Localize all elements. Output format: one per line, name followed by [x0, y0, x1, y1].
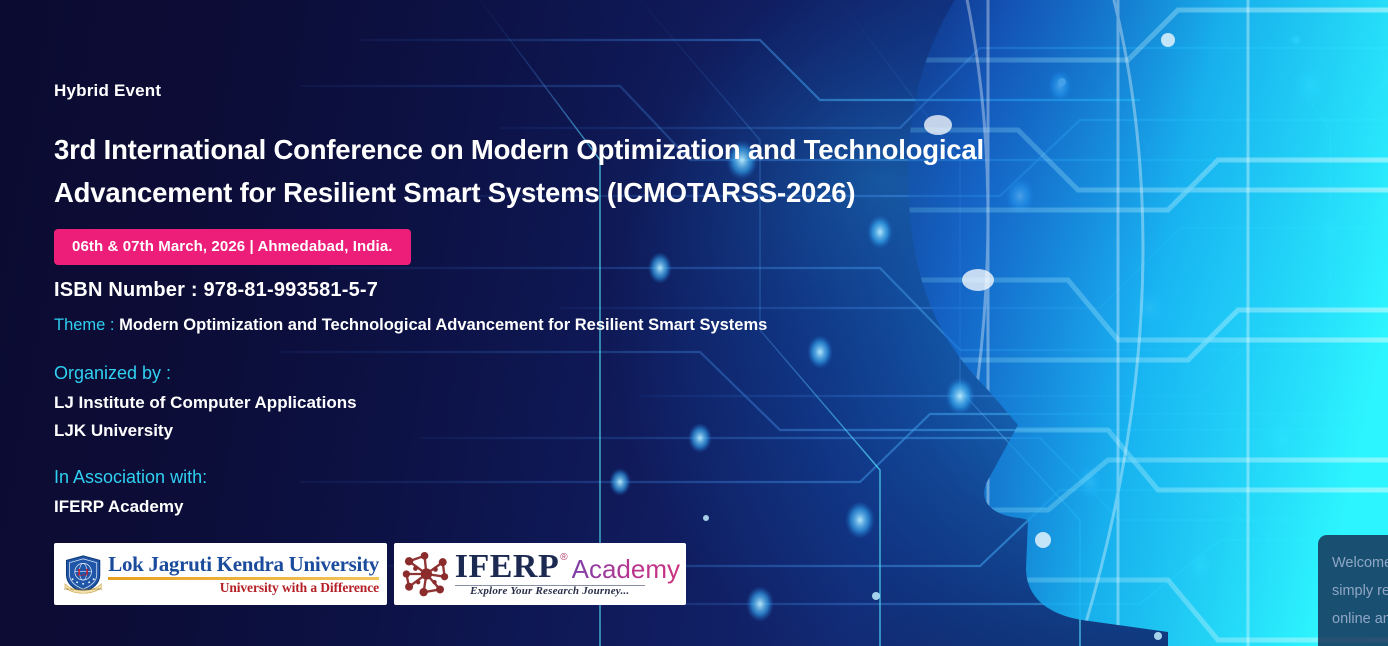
ljk-ribbon-text: Lok Jagruti Kendra University	[64, 587, 103, 591]
chat-message-line-3: online and ready to he	[1332, 605, 1388, 633]
iferp-academy-logo[interactable]: IFERP ® Academy Explore Your Research Jo…	[394, 543, 686, 605]
chat-message-line-1: Welcome to our site, i	[1332, 549, 1388, 577]
ljk-logo-name: Lok Jagruti Kendra University	[108, 554, 379, 575]
conference-title: 3rd International Conference on Modern O…	[54, 128, 1094, 214]
chat-widget[interactable]: Welcome to our site, i simply reply to t…	[1318, 535, 1388, 646]
logo-strip: LJ Lok Jagruti Kendra University Lok Jag…	[54, 543, 686, 605]
ljk-university-logo[interactable]: LJ Lok Jagruti Kendra University Lok Jag…	[54, 543, 387, 605]
isbn-number: ISBN Number : 978-81-993581-5-7	[54, 279, 378, 302]
theme-label: Theme :	[54, 316, 115, 334]
organizer-institute: LJ Institute of Computer Applications	[54, 393, 357, 413]
ljk-logo-tagline: University with a Difference	[108, 581, 379, 595]
iferp-molecule-icon	[400, 547, 453, 601]
iferp-logo-subname: Academy	[572, 556, 680, 583]
association-value: IFERP Academy	[54, 497, 183, 517]
event-type-label: Hybrid Event	[54, 81, 161, 101]
organizer-university: LJK University	[54, 421, 173, 441]
theme-line: Theme : Modern Optimization and Technolo…	[54, 316, 767, 335]
iferp-logo-tagline: Explore Your Research Journey...	[455, 586, 645, 597]
date-location-badge: 06th & 07th March, 2026 | Ahmedabad, Ind…	[54, 229, 411, 265]
conference-banner: Hybrid Event 3rd International Conferenc…	[0, 0, 1388, 646]
chat-message-line-2: simply reply to this me	[1332, 577, 1388, 605]
iferp-registered-mark: ®	[560, 553, 567, 563]
association-label: In Association with:	[54, 467, 207, 488]
organized-by-label: Organized by :	[54, 363, 171, 384]
ljk-crest-icon: LJ Lok Jagruti Kendra University	[62, 547, 104, 601]
banner-content: Hybrid Event 3rd International Conferenc…	[54, 0, 1154, 646]
svg-text:LJ: LJ	[77, 568, 89, 579]
theme-value: Modern Optimization and Technological Ad…	[119, 316, 767, 334]
iferp-logo-name: IFERP	[455, 551, 560, 583]
